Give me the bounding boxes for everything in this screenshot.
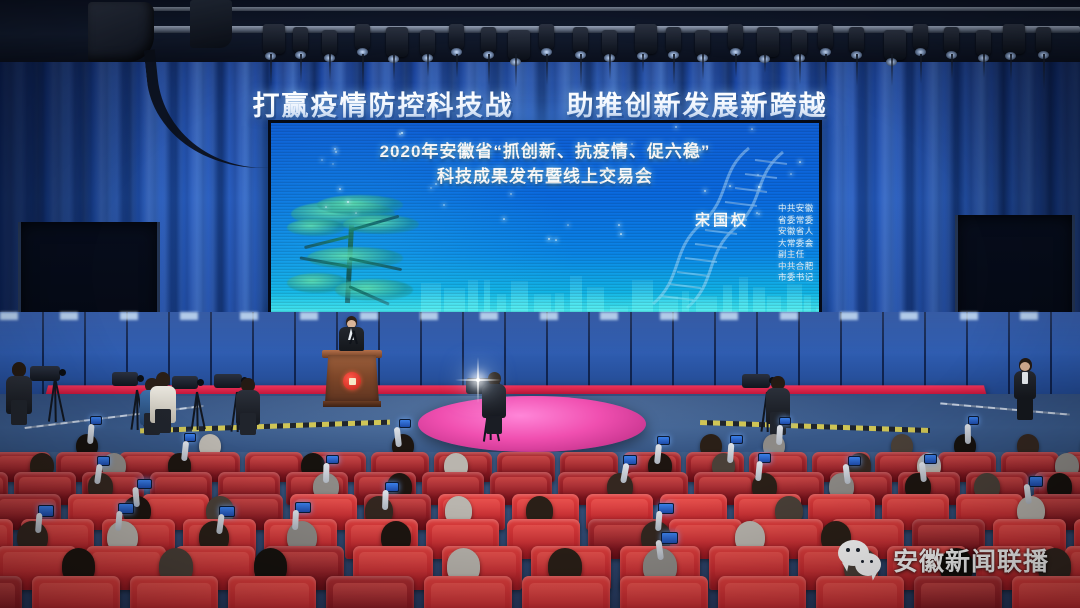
spotlight-fixture — [602, 30, 617, 56]
spotlight-cable — [515, 54, 517, 88]
spotlight-fixture — [884, 30, 906, 60]
led-sparkle — [401, 132, 403, 134]
speaker-title-1: 中共安徽省委常委 — [778, 203, 819, 226]
led-sparkle — [355, 212, 357, 214]
camera-lens-flare — [476, 378, 480, 382]
spotlight-cable — [920, 54, 922, 84]
audience-seat — [522, 576, 610, 608]
spotlight-cable — [1010, 54, 1012, 81]
spotlight-cable — [393, 54, 395, 81]
speaker-at-podium — [338, 316, 364, 350]
spotlight-fixture — [635, 24, 657, 54]
camera-tripod — [44, 378, 66, 422]
spotlight-fixture — [508, 30, 530, 60]
spotlight-fixture — [293, 27, 308, 53]
led-sparkle — [567, 224, 569, 226]
center-camera-platform — [418, 396, 646, 452]
wall-panel — [588, 312, 632, 394]
audience-seat — [228, 576, 316, 608]
audience-row — [0, 576, 1080, 608]
spotlight-cable — [427, 54, 429, 77]
led-sparkle — [332, 163, 334, 165]
attendee-arm — [382, 490, 389, 510]
spotlight-cable — [856, 54, 858, 86]
spotlight-cable — [300, 54, 302, 83]
spotlight-cable — [642, 54, 644, 73]
audience-seat — [914, 576, 1002, 608]
spotlight-cable — [546, 54, 548, 85]
audience-seat — [718, 576, 806, 608]
audience-seat — [424, 576, 512, 608]
spotlight-fixture — [695, 30, 710, 56]
attendee-arm — [323, 463, 329, 483]
spotlight-fixture — [818, 24, 833, 50]
wall-panel — [672, 312, 716, 394]
wall-panel — [924, 312, 968, 394]
press-photographer — [236, 378, 260, 434]
led-title-line-1: 2020年安徽省“抓创新、抗疫情、促六稳” — [271, 139, 819, 164]
camera-tripod — [186, 392, 208, 430]
attendee-phone — [968, 416, 980, 425]
attendee-phone — [661, 532, 678, 544]
spotlight-cable — [799, 54, 801, 85]
spotlight-fixture — [757, 27, 779, 57]
press-photographer — [6, 362, 32, 424]
wall-panel — [378, 312, 422, 394]
led-speaker-name: 宋国权 — [695, 209, 749, 230]
spotlight-cable — [329, 54, 331, 81]
headline-right-text: 助推创新发展新跨越 — [567, 91, 828, 121]
wall-panel — [798, 312, 842, 394]
spotlight-fixture — [944, 27, 959, 53]
video-camera — [30, 366, 60, 381]
audience-seat — [620, 576, 708, 608]
spotlight-cable — [609, 54, 611, 80]
wall-panel — [882, 312, 926, 394]
led-title-line-2: 科技成果发布暨线上交易会 — [271, 164, 819, 189]
audience-seat — [32, 576, 120, 608]
wall-panel — [420, 312, 464, 394]
wall-panel — [1050, 312, 1080, 394]
stage-downlights — [0, 312, 1080, 320]
led-sparkle — [618, 224, 620, 226]
spotlight-fixture — [728, 24, 743, 50]
spotlight-cable — [270, 54, 272, 87]
spotlight-fixture — [976, 30, 991, 56]
spotlight-fixture — [849, 27, 864, 53]
speaker-title-3: 中共合肥市委书记 — [778, 261, 819, 284]
wall-panel — [504, 312, 548, 394]
spotlight-fixture — [322, 30, 337, 56]
led-sparkle — [334, 148, 336, 150]
led-sparkle — [503, 218, 505, 220]
led-sparkle — [548, 238, 550, 240]
spotlight-fixture — [263, 24, 285, 54]
spotlight-fixture — [1036, 27, 1051, 53]
standing-usher — [1013, 358, 1037, 420]
spotlight-cable — [891, 54, 893, 86]
led-screen: 2020年安徽省“抓创新、抗疫情、促六稳” 科技成果发布暨线上交易会 宋国权 中… — [268, 120, 822, 318]
spotlight-cable — [702, 54, 704, 80]
attendee-phone — [137, 479, 151, 489]
spotlight-cable — [951, 54, 953, 79]
spotlight-fixture — [573, 27, 588, 53]
podium-emblem-icon — [343, 372, 361, 390]
spotlight-fixture — [420, 30, 435, 56]
spotlight-fixture — [355, 24, 370, 50]
led-screen-content: 2020年安徽省“抓创新、抗疫情、促六稳” 科技成果发布暨线上交易会 宋国权 中… — [271, 123, 819, 315]
audience-seat — [816, 576, 904, 608]
led-sparkle — [399, 133, 401, 135]
spotlight-fixture — [539, 24, 554, 50]
attendee-phone — [399, 419, 411, 428]
speaker-title-2: 安徽省人大常委会副主任 — [778, 226, 819, 261]
press-photographer — [150, 372, 176, 432]
audience-seat — [130, 576, 218, 608]
led-title-block: 2020年安徽省“抓创新、抗疫情、促六稳” 科技成果发布暨线上交易会 — [271, 139, 819, 189]
led-sparkle — [757, 174, 759, 176]
audience-seat — [326, 576, 414, 608]
spotlight-fixture — [913, 24, 928, 50]
spotlight-fixture — [666, 27, 681, 53]
spotlight-cable — [488, 54, 490, 86]
attendee-phone — [924, 454, 937, 464]
wall-panel — [630, 312, 674, 394]
spotlight-fixture — [481, 27, 496, 53]
spotlight-cable — [764, 54, 766, 73]
led-sparkle — [808, 243, 810, 245]
wall-panel — [966, 312, 1010, 394]
led-speaker-titles: 中共安徽省委常委 安徽省人大常委会副主任 中共合肥市委书记 — [778, 203, 819, 284]
stage-headline: 打赢疫情防控科技战 助推创新发展新跨越 — [0, 84, 1080, 123]
led-sparkle — [675, 126, 677, 128]
attendee-phone — [779, 417, 791, 426]
led-sparkle — [758, 213, 760, 215]
spotlight-cable — [673, 54, 675, 85]
wall-panel — [546, 312, 590, 394]
led-sparkle — [799, 161, 801, 163]
spotlight-fixture — [792, 30, 807, 56]
led-sparkle — [510, 193, 512, 195]
led-sparkle — [729, 185, 731, 187]
attendee-phone — [1029, 476, 1043, 486]
audience-seat — [1012, 576, 1080, 608]
attendee-arm — [964, 424, 970, 444]
audience-seat — [0, 576, 22, 608]
speaking-podium — [325, 345, 379, 409]
attendee-phone — [848, 456, 861, 466]
video-camera — [112, 372, 138, 386]
broadcast-frame: 打赢疫情防控科技战 助推创新发展新跨越 — [0, 0, 1080, 608]
spotlight-cable — [983, 54, 985, 78]
led-sparkle — [740, 215, 742, 217]
led-sparkle — [555, 239, 557, 241]
led-sparkle — [443, 204, 445, 206]
attendee-arm — [776, 425, 783, 445]
spotlight-cable — [456, 54, 458, 78]
led-sparkle — [751, 128, 753, 130]
spotlight-fixture — [386, 27, 408, 57]
spotlight-cable — [735, 54, 737, 78]
spotlight-fixture — [1003, 24, 1025, 54]
spotlight-fixture — [449, 24, 464, 50]
headline-left-text: 打赢疫情防控科技战 — [252, 91, 513, 121]
wall-panel — [840, 312, 884, 394]
led-sparkle — [620, 233, 622, 235]
